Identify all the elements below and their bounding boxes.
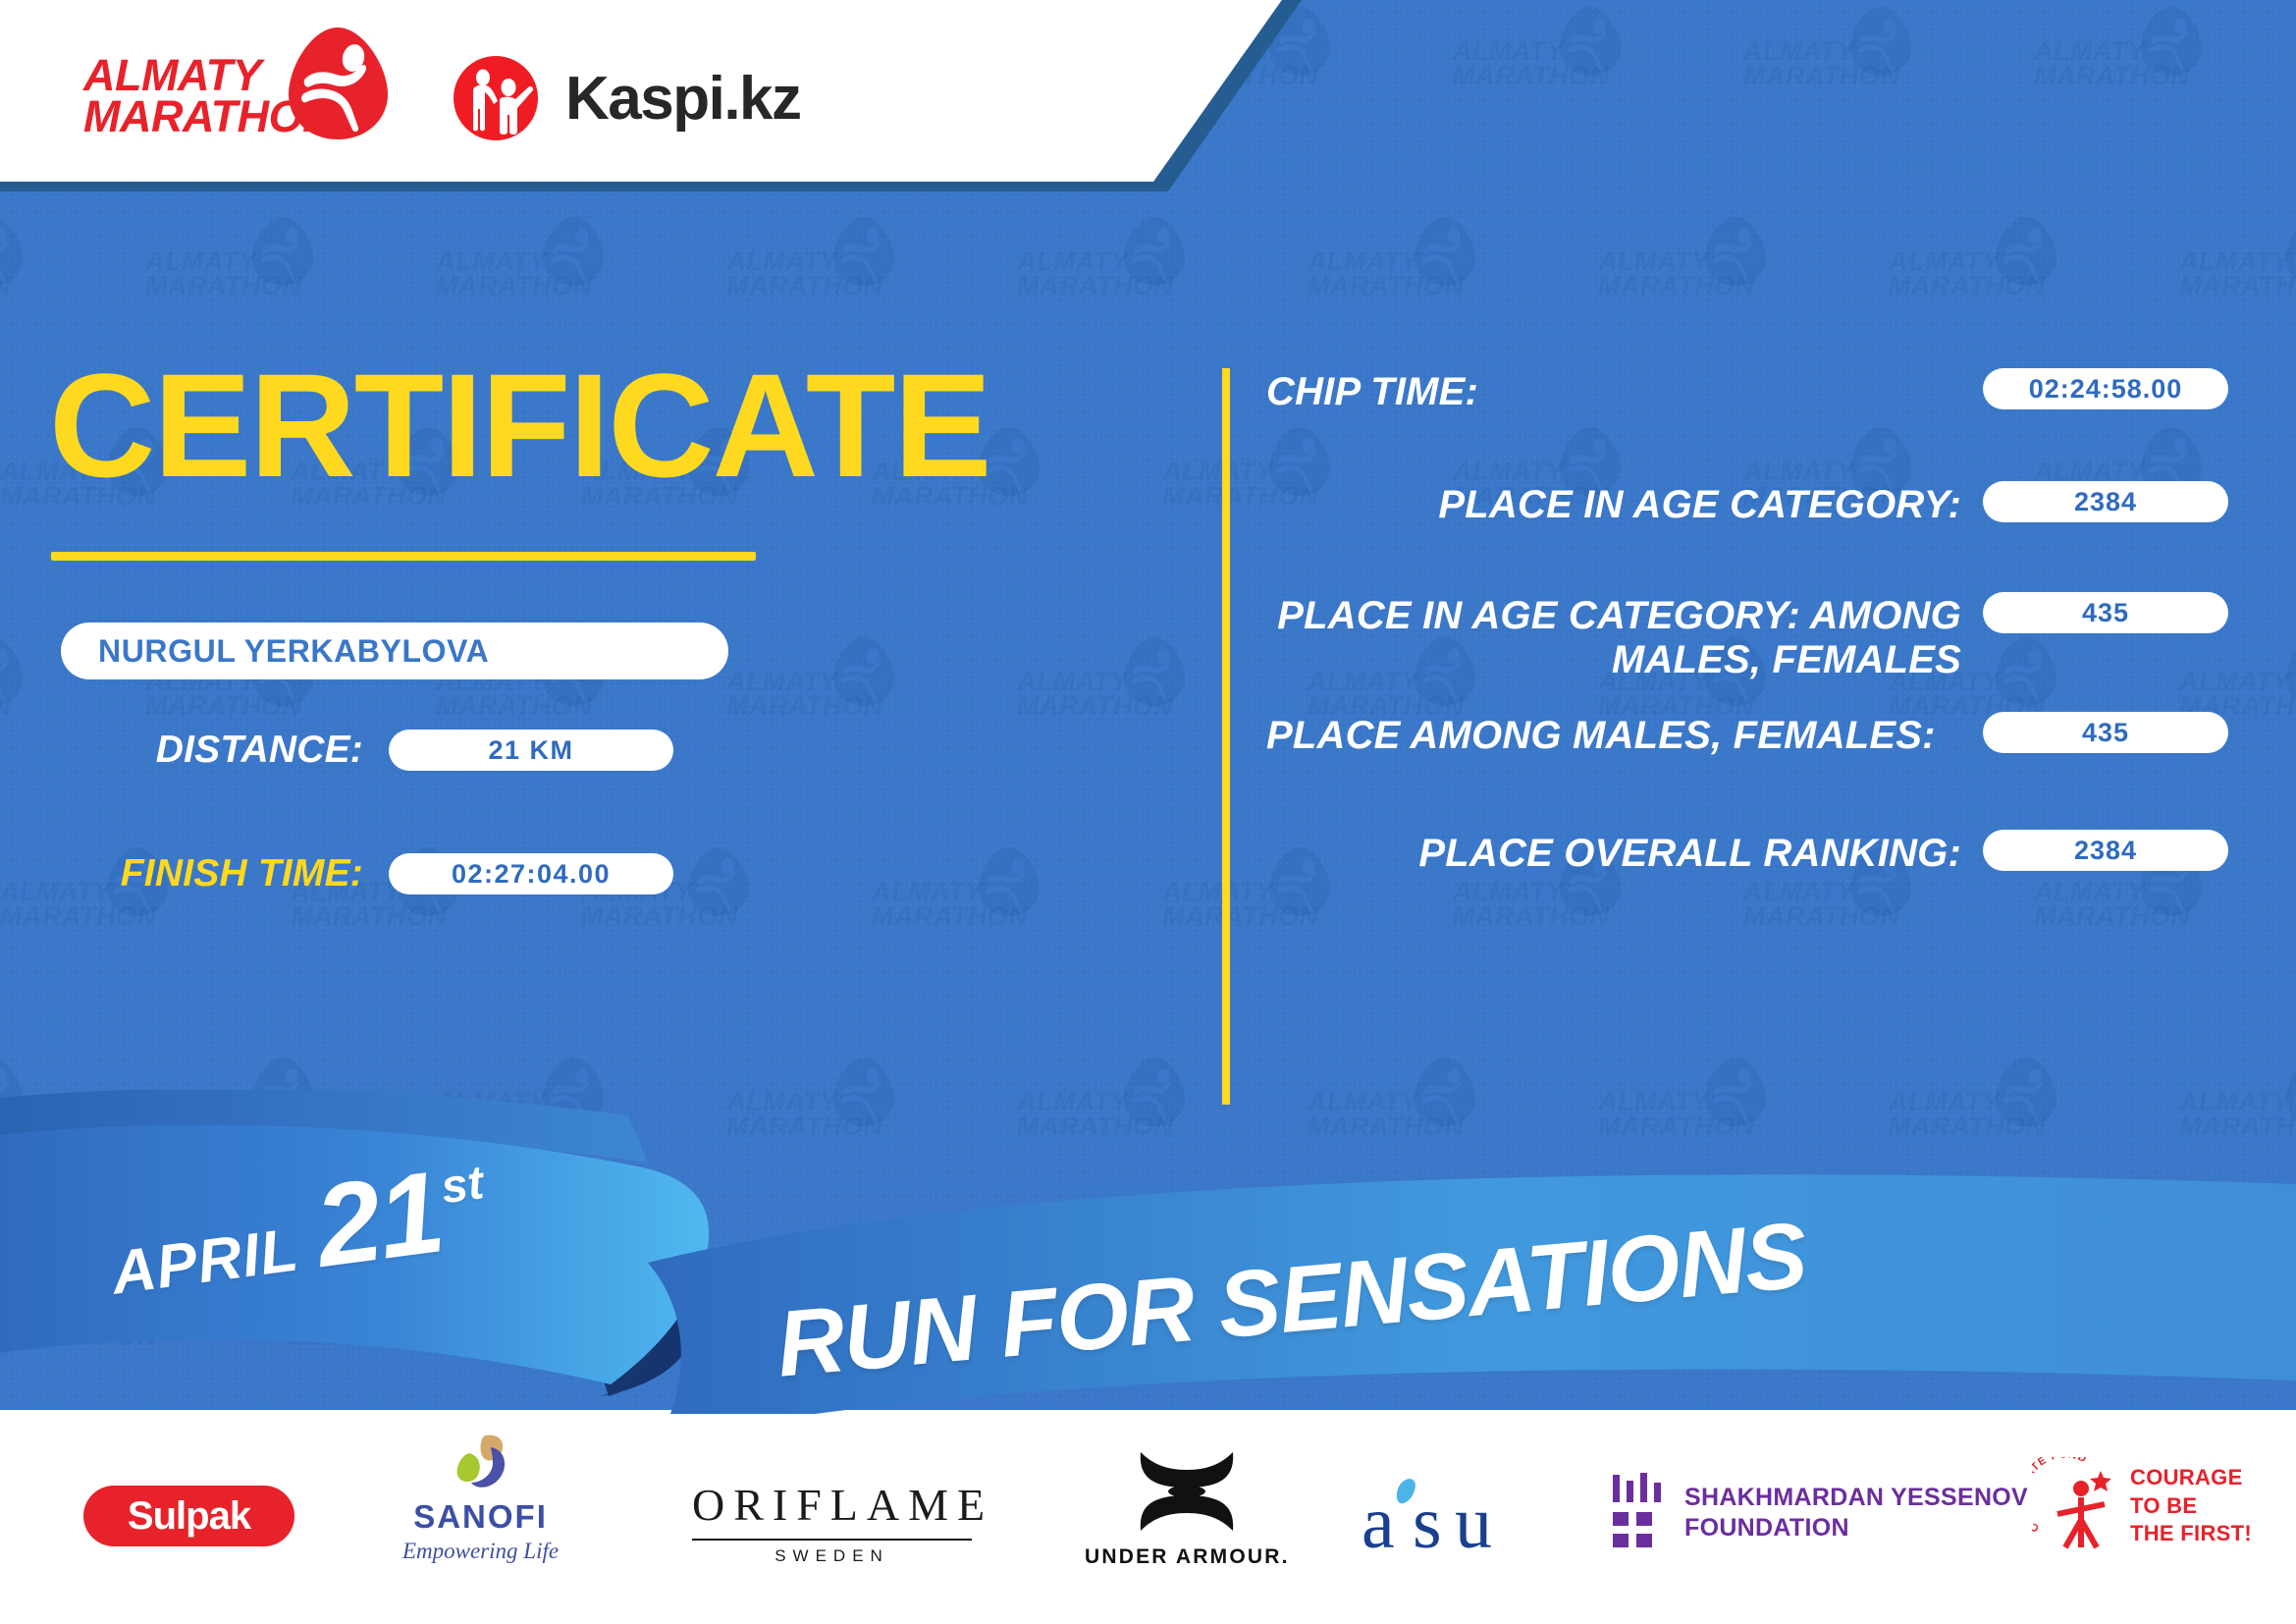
place-age-category-gender-label: PLACE IN AGE CATEGORY: AMONG MALES, FEMA…	[1266, 592, 1983, 682]
athlete-name-field: NURGUL YERKABYLOVA	[61, 623, 728, 679]
sponsor-logo-yessenov-foundation: SHAKHMARDAN YESSENOV FOUNDATION	[1610, 1444, 2028, 1582]
svg-text:u: u	[1455, 1482, 1492, 1561]
stat-row: PLACE OVERALL RANKING: 2384	[1266, 830, 2228, 876]
svg-text:s: s	[1413, 1482, 1442, 1561]
kaspi-logo: Kaspi.kz	[452, 54, 801, 142]
distance-value-field: 21 KM	[389, 730, 673, 771]
watermark-tile: ALMATYMARATHON	[2179, 1051, 2296, 1161]
place-among-gender-label: PLACE AMONG MALES, FEMALES:	[1266, 712, 1983, 758]
place-overall-ranking-value-field: 2384	[1983, 830, 2228, 871]
place-overall-ranking-value: 2384	[2074, 836, 2137, 866]
watermark-tile: ALMATYMARATHON	[1453, 0, 1629, 110]
watermark-tile: ALMATYMARATHON	[581, 1261, 758, 1371]
sanofi-wordmark: SANOFI	[402, 1498, 559, 1536]
watermark-tile: ALMATYMARATHON	[1453, 1261, 1629, 1371]
stat-row: PLACE IN AGE CATEGORY: 2384	[1266, 481, 2228, 527]
watermark-tile: ALMATYMARATHON	[1598, 1051, 1775, 1161]
title-underline	[51, 552, 756, 561]
chip-time-label: CHIP TIME:	[1266, 368, 1983, 414]
kaspi-people-icon	[452, 54, 540, 142]
sanofi-mark-icon	[446, 1434, 516, 1494]
athlete-name-value: NURGUL YERKABYLOVA	[98, 633, 489, 670]
sponsor-logo-under-armour: UNDER ARMOUR.	[1085, 1439, 1290, 1577]
stat-row: CHIP TIME: 02:24:58.00	[1266, 368, 2228, 414]
sulpak-wordmark: Sulpak	[128, 1494, 250, 1539]
finish-time-value: 02:27:04.00	[452, 859, 611, 890]
watermark-tile: ALMATYMARATHON	[1162, 1261, 1339, 1371]
oriflame-rule	[692, 1539, 972, 1541]
finish-time-label: FINISH TIME:	[59, 852, 363, 895]
watermark-tile: ALMATYMARATHON	[2034, 0, 2211, 110]
sulpak-badge: Sulpak	[83, 1486, 294, 1546]
distance-value: 21 KM	[488, 735, 573, 766]
watermark-tile: ALMATYMARATHON	[726, 1051, 903, 1161]
place-overall-ranking-label: PLACE OVERALL RANKING:	[1266, 830, 1983, 876]
watermark-tile: ALMATYMARATHON	[436, 1051, 613, 1161]
stat-row: PLACE IN AGE CATEGORY: AMONG MALES, FEMA…	[1266, 592, 2228, 682]
oriflame-sub: SWEDEN	[692, 1546, 972, 1566]
watermark-tile: ALMATYMARATHON	[1598, 210, 1775, 320]
yessenov-line2: FOUNDATION	[1684, 1513, 2028, 1543]
place-age-category-label: PLACE IN AGE CATEGORY:	[1266, 481, 1983, 527]
certificate-canvas: ALMATYMARATHONALMATYMARATHONALMATYMARATH…	[0, 0, 2296, 1624]
watermark-tile: ALMATYMARATHON	[2034, 1261, 2211, 1371]
sanofi-tagline: Empowering Life	[402, 1539, 559, 1564]
place-among-gender-value: 435	[2082, 718, 2129, 748]
watermark-tile: ALMATYMARATHON	[291, 1261, 467, 1371]
distance-label: DISTANCE:	[59, 729, 363, 772]
place-age-category-value-field: 2384	[1983, 481, 2228, 522]
watermark-tile: ALMATYMARATHON	[1308, 1051, 1484, 1161]
finish-time-value-field: 02:27:04.00	[389, 853, 673, 894]
almaty-marathon-logo: ALMATY MARATHON	[83, 37, 407, 160]
courage-fund-icon: CORPORATE FUND	[2032, 1457, 2120, 1555]
watermark-tile: ALMATYMARATHON	[1889, 210, 2065, 320]
watermark-tile: ALMATYMARATHON	[0, 1261, 177, 1371]
sponsor-logo-sanofi: SANOFI Empowering Life	[402, 1430, 559, 1567]
finish-time-row: FINISH TIME: 02:27:04.00	[59, 852, 673, 895]
place-among-gender-value-field: 435	[1983, 712, 2228, 753]
stat-row: PLACE AMONG MALES, FEMALES: 435	[1266, 712, 2228, 758]
sponsor-logo-oriflame: ORIFLAME SWEDEN	[692, 1453, 972, 1591]
watermark-tile: ALMATYMARATHON	[145, 1051, 322, 1161]
watermark-tile: ALMATYMARATHON	[1743, 1261, 1920, 1371]
asu-icon: a s u	[1360, 1471, 1526, 1561]
place-age-category-gender-value-field: 435	[1983, 592, 2228, 633]
column-divider	[1222, 368, 1230, 1105]
kaspi-wordmark: Kaspi.kz	[565, 64, 801, 134]
courage-line1: COURAGE	[2130, 1464, 2252, 1492]
header: ALMATY MARATHON Kaspi.kz	[0, 0, 1335, 295]
under-armour-wordmark: UNDER ARMOUR.	[1085, 1545, 1290, 1569]
watermark-tile: ALMATYMARATHON	[1889, 1051, 2065, 1161]
distance-row: DISTANCE: 21 KM	[59, 729, 673, 772]
place-age-category-gender-value: 435	[2082, 598, 2129, 628]
sponsor-bar: Sulpak SANOFI Empowering Life ORIFLAME S…	[0, 1410, 2296, 1624]
yessenov-line1: SHAKHMARDAN YESSENOV	[1684, 1483, 2028, 1513]
watermark-tile: ALMATYMARATHON	[0, 1051, 31, 1161]
page-title: CERTIFICATE	[49, 352, 990, 499]
sponsor-logo-asu: a s u	[1360, 1447, 1526, 1585]
runner-drop-icon	[287, 26, 390, 141]
watermark-tile: ALMATYMARATHON	[2179, 210, 2296, 320]
yessenov-mark-icon	[1610, 1473, 1665, 1553]
under-armour-icon	[1127, 1448, 1247, 1535]
chip-time-value-field: 02:24:58.00	[1983, 368, 2228, 409]
courage-line3: THE FIRST!	[2130, 1520, 2252, 1548]
left-column: CERTIFICATE NURGUL YERKABYLOVA DISTANCE:…	[0, 324, 1158, 1011]
courage-line2: TO BE	[2130, 1492, 2252, 1521]
watermark-tile: ALMATYMARATHON	[1017, 1051, 1194, 1161]
place-age-category-value: 2384	[2074, 487, 2137, 517]
oriflame-wordmark: ORIFLAME	[692, 1479, 972, 1531]
sponsor-logo-sulpak: Sulpak	[83, 1447, 294, 1585]
watermark-tile: ALMATYMARATHON	[872, 1261, 1048, 1371]
chip-time-value: 02:24:58.00	[2029, 374, 2183, 405]
watermark-tile: ALMATYMARATHON	[1743, 0, 1920, 110]
sponsor-logo-courage-fund: CORPORATE FUND COURAGE TO BE THE FIRST!	[2032, 1437, 2252, 1575]
svg-text:a: a	[1362, 1482, 1395, 1561]
